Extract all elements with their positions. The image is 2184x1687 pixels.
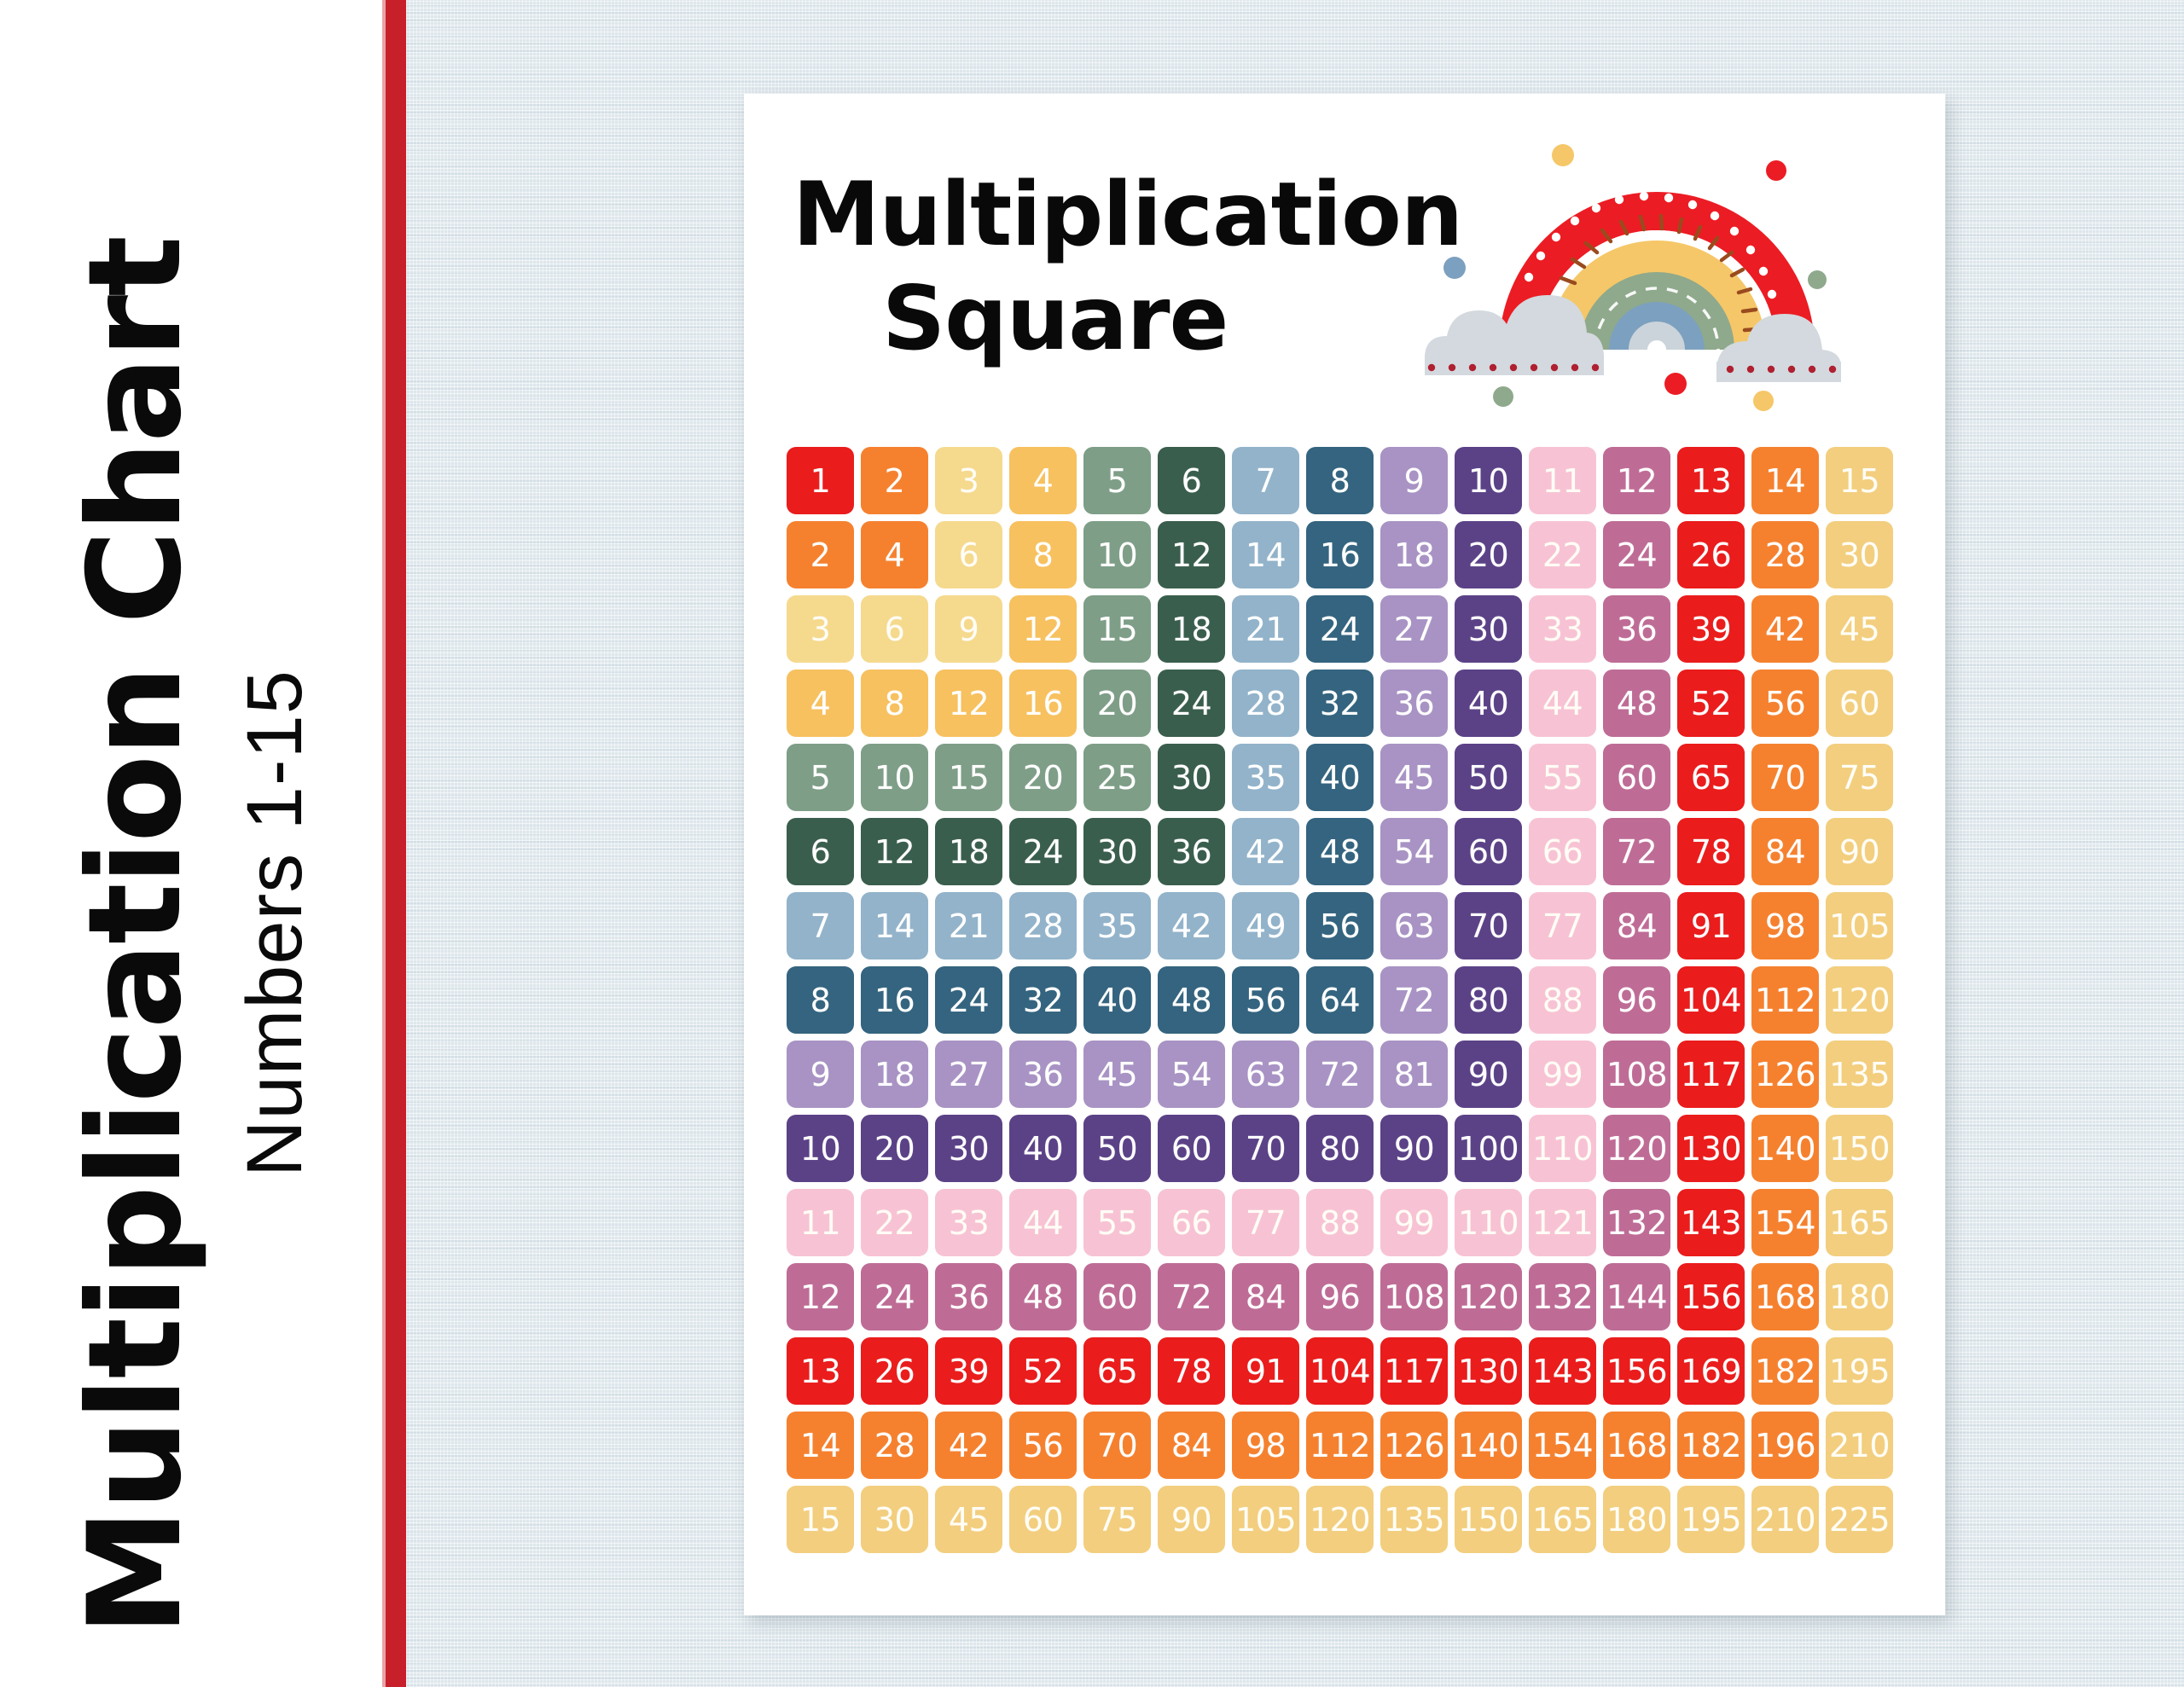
grid-cell-10x12: 120 bbox=[1603, 1115, 1670, 1182]
grid-cell-4x9: 36 bbox=[1380, 670, 1448, 737]
grid-cell-8x5: 40 bbox=[1083, 966, 1151, 1034]
grid-cell-8x4: 32 bbox=[1009, 966, 1077, 1034]
grid-cell-9x2: 18 bbox=[861, 1041, 928, 1108]
grid-cell-3x12: 36 bbox=[1603, 595, 1670, 663]
grid-cell-13x8: 104 bbox=[1306, 1337, 1374, 1405]
red-accent-stripe-highlight bbox=[382, 0, 386, 1687]
grid-cell-7x9: 63 bbox=[1380, 892, 1448, 959]
grid-cell-14x4: 56 bbox=[1009, 1412, 1077, 1479]
grid-cell-6x3: 18 bbox=[935, 818, 1002, 885]
grid-cell-2x11: 22 bbox=[1529, 521, 1596, 588]
grid-cell-6x6: 36 bbox=[1158, 818, 1225, 885]
grid-cell-9x8: 72 bbox=[1306, 1041, 1374, 1108]
grid-cell-8x12: 96 bbox=[1603, 966, 1670, 1034]
grid-cell-3x3: 9 bbox=[935, 595, 1002, 663]
grid-cell-7x7: 49 bbox=[1232, 892, 1299, 959]
grid-cell-6x9: 54 bbox=[1380, 818, 1448, 885]
grid-cell-11x15: 165 bbox=[1826, 1189, 1893, 1256]
grid-cell-1x4: 4 bbox=[1009, 447, 1077, 514]
grid-cell-6x11: 66 bbox=[1529, 818, 1596, 885]
grid-cell-5x6: 30 bbox=[1158, 744, 1225, 811]
grid-cell-4x6: 24 bbox=[1158, 670, 1225, 737]
grid-cell-2x10: 20 bbox=[1455, 521, 1522, 588]
grid-cell-7x5: 35 bbox=[1083, 892, 1151, 959]
grid-cell-5x7: 35 bbox=[1232, 744, 1299, 811]
grid-cell-4x4: 16 bbox=[1009, 670, 1077, 737]
grid-cell-10x8: 80 bbox=[1306, 1115, 1374, 1182]
grid-cell-9x7: 63 bbox=[1232, 1041, 1299, 1108]
grid-cell-10x6: 60 bbox=[1158, 1115, 1225, 1182]
grid-cell-1x10: 10 bbox=[1455, 447, 1522, 514]
page-subtitle: Numbers 1-15 bbox=[230, 670, 320, 1177]
grid-cell-14x8: 112 bbox=[1306, 1412, 1374, 1479]
grid-cell-11x8: 88 bbox=[1306, 1189, 1374, 1256]
grid-cell-3x4: 12 bbox=[1009, 595, 1077, 663]
grid-cell-9x4: 36 bbox=[1009, 1041, 1077, 1108]
grid-cell-7x13: 91 bbox=[1677, 892, 1745, 959]
grid-cell-14x3: 42 bbox=[935, 1412, 1002, 1479]
grid-cell-5x2: 10 bbox=[861, 744, 928, 811]
grid-cell-11x9: 99 bbox=[1380, 1189, 1448, 1256]
grid-cell-15x12: 180 bbox=[1603, 1486, 1670, 1553]
grid-cell-9x12: 108 bbox=[1603, 1041, 1670, 1108]
grid-cell-13x1: 13 bbox=[787, 1337, 854, 1405]
grid-cell-8x15: 120 bbox=[1826, 966, 1893, 1034]
grid-cell-12x4: 48 bbox=[1009, 1263, 1077, 1330]
grid-cell-2x15: 30 bbox=[1826, 521, 1893, 588]
grid-cell-1x3: 3 bbox=[935, 447, 1002, 514]
rainbow-icon bbox=[1418, 102, 1896, 426]
grid-cell-2x3: 6 bbox=[935, 521, 1002, 588]
grid-cell-3x6: 18 bbox=[1158, 595, 1225, 663]
grid-cell-8x11: 88 bbox=[1529, 966, 1596, 1034]
grid-cell-13x14: 182 bbox=[1751, 1337, 1819, 1405]
grid-cell-6x4: 24 bbox=[1009, 818, 1077, 885]
grid-cell-6x8: 48 bbox=[1306, 818, 1374, 885]
grid-cell-1x6: 6 bbox=[1158, 447, 1225, 514]
grid-cell-15x15: 225 bbox=[1826, 1486, 1893, 1553]
grid-cell-10x1: 10 bbox=[787, 1115, 854, 1182]
grid-cell-1x5: 5 bbox=[1083, 447, 1151, 514]
grid-cell-10x13: 130 bbox=[1677, 1115, 1745, 1182]
grid-cell-12x11: 132 bbox=[1529, 1263, 1596, 1330]
grid-cell-3x7: 21 bbox=[1232, 595, 1299, 663]
grid-cell-4x7: 28 bbox=[1232, 670, 1299, 737]
grid-cell-12x15: 180 bbox=[1826, 1263, 1893, 1330]
grid-cell-10x2: 20 bbox=[861, 1115, 928, 1182]
grid-cell-7x15: 105 bbox=[1826, 892, 1893, 959]
grid-cell-14x10: 140 bbox=[1455, 1412, 1522, 1479]
grid-cell-3x14: 42 bbox=[1751, 595, 1819, 663]
grid-cell-10x14: 140 bbox=[1751, 1115, 1819, 1182]
grid-cell-12x10: 120 bbox=[1455, 1263, 1522, 1330]
grid-cell-4x10: 40 bbox=[1455, 670, 1522, 737]
grid-cell-10x9: 90 bbox=[1380, 1115, 1448, 1182]
vertical-title-wrap: Multiplication Chart Numbers 1-15 bbox=[0, 0, 382, 1687]
grid-cell-1x12: 12 bbox=[1603, 447, 1670, 514]
grid-cell-3x15: 45 bbox=[1826, 595, 1893, 663]
grid-cell-4x2: 8 bbox=[861, 670, 928, 737]
grid-cell-14x15: 210 bbox=[1826, 1412, 1893, 1479]
grid-cell-13x11: 143 bbox=[1529, 1337, 1596, 1405]
grid-cell-1x9: 9 bbox=[1380, 447, 1448, 514]
grid-cell-6x14: 84 bbox=[1751, 818, 1819, 885]
grid-cell-2x14: 28 bbox=[1751, 521, 1819, 588]
grid-cell-4x5: 20 bbox=[1083, 670, 1151, 737]
grid-cell-14x11: 154 bbox=[1529, 1412, 1596, 1479]
grid-cell-4x3: 12 bbox=[935, 670, 1002, 737]
grid-cell-14x7: 98 bbox=[1232, 1412, 1299, 1479]
grid-cell-15x7: 105 bbox=[1232, 1486, 1299, 1553]
grid-cell-3x13: 39 bbox=[1677, 595, 1745, 663]
grid-cell-11x14: 154 bbox=[1751, 1189, 1819, 1256]
red-accent-stripe bbox=[382, 0, 406, 1687]
grid-cell-5x3: 15 bbox=[935, 744, 1002, 811]
grid-cell-13x4: 52 bbox=[1009, 1337, 1077, 1405]
grid-cell-6x10: 60 bbox=[1455, 818, 1522, 885]
grid-cell-15x9: 135 bbox=[1380, 1486, 1448, 1553]
grid-cell-14x6: 84 bbox=[1158, 1412, 1225, 1479]
grid-cell-7x11: 77 bbox=[1529, 892, 1596, 959]
grid-cell-2x5: 10 bbox=[1083, 521, 1151, 588]
grid-cell-7x1: 7 bbox=[787, 892, 854, 959]
grid-cell-7x2: 14 bbox=[861, 892, 928, 959]
grid-cell-10x10: 100 bbox=[1455, 1115, 1522, 1182]
grid-cell-4x13: 52 bbox=[1677, 670, 1745, 737]
grid-cell-5x10: 50 bbox=[1455, 744, 1522, 811]
grid-cell-8x1: 8 bbox=[787, 966, 854, 1034]
grid-cell-12x3: 36 bbox=[935, 1263, 1002, 1330]
grid-cell-15x2: 30 bbox=[861, 1486, 928, 1553]
grid-cell-5x13: 65 bbox=[1677, 744, 1745, 811]
grid-cell-15x14: 210 bbox=[1751, 1486, 1819, 1553]
grid-cell-4x8: 32 bbox=[1306, 670, 1374, 737]
grid-cell-10x5: 50 bbox=[1083, 1115, 1151, 1182]
grid-cell-12x8: 96 bbox=[1306, 1263, 1374, 1330]
grid-cell-8x14: 112 bbox=[1751, 966, 1819, 1034]
grid-cell-2x7: 14 bbox=[1232, 521, 1299, 588]
grid-cell-6x13: 78 bbox=[1677, 818, 1745, 885]
grid-cell-5x11: 55 bbox=[1529, 744, 1596, 811]
grid-cell-12x2: 24 bbox=[861, 1263, 928, 1330]
grid-cell-5x5: 25 bbox=[1083, 744, 1151, 811]
grid-cell-11x7: 77 bbox=[1232, 1189, 1299, 1256]
grid-cell-6x7: 42 bbox=[1232, 818, 1299, 885]
grid-cell-6x15: 90 bbox=[1826, 818, 1893, 885]
grid-cell-13x6: 78 bbox=[1158, 1337, 1225, 1405]
grid-cell-14x5: 70 bbox=[1083, 1412, 1151, 1479]
grid-cell-3x11: 33 bbox=[1529, 595, 1596, 663]
grid-cell-14x2: 28 bbox=[861, 1412, 928, 1479]
grid-cell-5x4: 20 bbox=[1009, 744, 1077, 811]
grid-cell-9x9: 81 bbox=[1380, 1041, 1448, 1108]
grid-cell-11x11: 121 bbox=[1529, 1189, 1596, 1256]
grid-cell-2x2: 4 bbox=[861, 521, 928, 588]
grid-cell-13x9: 117 bbox=[1380, 1337, 1448, 1405]
grid-cell-3x2: 6 bbox=[861, 595, 928, 663]
grid-cell-12x7: 84 bbox=[1232, 1263, 1299, 1330]
heading-line-2: Square bbox=[793, 268, 1467, 372]
grid-cell-1x2: 2 bbox=[861, 447, 928, 514]
grid-cell-15x10: 150 bbox=[1455, 1486, 1522, 1553]
grid-cell-13x7: 91 bbox=[1232, 1337, 1299, 1405]
grid-cell-2x4: 8 bbox=[1009, 521, 1077, 588]
grid-cell-9x5: 45 bbox=[1083, 1041, 1151, 1108]
grid-cell-1x7: 7 bbox=[1232, 447, 1299, 514]
grid-cell-14x14: 196 bbox=[1751, 1412, 1819, 1479]
grid-cell-11x1: 11 bbox=[787, 1189, 854, 1256]
grid-cell-9x11: 99 bbox=[1529, 1041, 1596, 1108]
grid-cell-1x8: 8 bbox=[1306, 447, 1374, 514]
grid-cell-14x9: 126 bbox=[1380, 1412, 1448, 1479]
grid-cell-8x13: 104 bbox=[1677, 966, 1745, 1034]
grid-cell-7x14: 98 bbox=[1751, 892, 1819, 959]
grid-cell-10x4: 40 bbox=[1009, 1115, 1077, 1182]
grid-cell-12x9: 108 bbox=[1380, 1263, 1448, 1330]
grid-cell-11x13: 143 bbox=[1677, 1189, 1745, 1256]
card-heading: Multiplication Square bbox=[793, 164, 1467, 371]
grid-cell-4x1: 4 bbox=[787, 670, 854, 737]
grid-cell-1x13: 13 bbox=[1677, 447, 1745, 514]
grid-cell-11x12: 132 bbox=[1603, 1189, 1670, 1256]
grid-cell-6x2: 12 bbox=[861, 818, 928, 885]
grid-cell-3x9: 27 bbox=[1380, 595, 1448, 663]
left-title-panel: Multiplication Chart Numbers 1-15 bbox=[0, 0, 382, 1687]
grid-cell-4x11: 44 bbox=[1529, 670, 1596, 737]
grid-cell-13x2: 26 bbox=[861, 1337, 928, 1405]
grid-cell-2x12: 24 bbox=[1603, 521, 1670, 588]
grid-cell-8x7: 56 bbox=[1232, 966, 1299, 1034]
grid-cell-13x15: 195 bbox=[1826, 1337, 1893, 1405]
grid-cell-13x10: 130 bbox=[1455, 1337, 1522, 1405]
grid-cell-7x8: 56 bbox=[1306, 892, 1374, 959]
grid-cell-1x1: 1 bbox=[787, 447, 854, 514]
grid-cell-8x3: 24 bbox=[935, 966, 1002, 1034]
grid-cell-5x12: 60 bbox=[1603, 744, 1670, 811]
grid-cell-9x10: 90 bbox=[1455, 1041, 1522, 1108]
grid-cell-13x3: 39 bbox=[935, 1337, 1002, 1405]
grid-cell-3x10: 30 bbox=[1455, 595, 1522, 663]
grid-cell-4x14: 56 bbox=[1751, 670, 1819, 737]
multiplication-grid: 1234567891011121314152468101214161820222… bbox=[787, 447, 1893, 1553]
grid-cell-10x15: 150 bbox=[1826, 1115, 1893, 1182]
grid-cell-6x5: 30 bbox=[1083, 818, 1151, 885]
grid-cell-3x8: 24 bbox=[1306, 595, 1374, 663]
grid-cell-11x3: 33 bbox=[935, 1189, 1002, 1256]
grid-cell-2x9: 18 bbox=[1380, 521, 1448, 588]
grid-cell-9x6: 54 bbox=[1158, 1041, 1225, 1108]
heading-line-1: Multiplication bbox=[793, 164, 1467, 268]
grid-cell-2x6: 12 bbox=[1158, 521, 1225, 588]
grid-cell-7x12: 84 bbox=[1603, 892, 1670, 959]
grid-cell-14x12: 168 bbox=[1603, 1412, 1670, 1479]
grid-cell-8x9: 72 bbox=[1380, 966, 1448, 1034]
grid-cell-9x3: 27 bbox=[935, 1041, 1002, 1108]
grid-cell-11x2: 22 bbox=[861, 1189, 928, 1256]
grid-cell-15x1: 15 bbox=[787, 1486, 854, 1553]
grid-cell-13x12: 156 bbox=[1603, 1337, 1670, 1405]
grid-cell-5x9: 45 bbox=[1380, 744, 1448, 811]
grid-cell-9x1: 9 bbox=[787, 1041, 854, 1108]
grid-cell-4x12: 48 bbox=[1603, 670, 1670, 737]
grid-cell-11x5: 55 bbox=[1083, 1189, 1151, 1256]
grid-cell-15x11: 165 bbox=[1529, 1486, 1596, 1553]
grid-cell-12x13: 156 bbox=[1677, 1263, 1745, 1330]
grid-cell-11x6: 66 bbox=[1158, 1189, 1225, 1256]
grid-cell-12x14: 168 bbox=[1751, 1263, 1819, 1330]
grid-cell-4x15: 60 bbox=[1826, 670, 1893, 737]
page-title: Multiplication Chart bbox=[61, 237, 210, 1636]
grid-cell-9x15: 135 bbox=[1826, 1041, 1893, 1108]
grid-cell-8x8: 64 bbox=[1306, 966, 1374, 1034]
grid-cell-14x13: 182 bbox=[1677, 1412, 1745, 1479]
grid-cell-3x5: 15 bbox=[1083, 595, 1151, 663]
grid-cell-9x14: 126 bbox=[1751, 1041, 1819, 1108]
grid-cell-7x3: 21 bbox=[935, 892, 1002, 959]
grid-cell-12x1: 12 bbox=[787, 1263, 854, 1330]
grid-cell-10x7: 70 bbox=[1232, 1115, 1299, 1182]
grid-cell-7x6: 42 bbox=[1158, 892, 1225, 959]
grid-cell-1x14: 14 bbox=[1751, 447, 1819, 514]
grid-cell-13x5: 65 bbox=[1083, 1337, 1151, 1405]
grid-cell-5x14: 70 bbox=[1751, 744, 1819, 811]
grid-cell-10x11: 110 bbox=[1529, 1115, 1596, 1182]
grid-cell-5x8: 40 bbox=[1306, 744, 1374, 811]
grid-cell-1x15: 15 bbox=[1826, 447, 1893, 514]
grid-cell-15x4: 60 bbox=[1009, 1486, 1077, 1553]
card-header: Multiplication Square bbox=[744, 94, 1945, 435]
grid-cell-6x1: 6 bbox=[787, 818, 854, 885]
grid-cell-12x5: 60 bbox=[1083, 1263, 1151, 1330]
grid-cell-2x13: 26 bbox=[1677, 521, 1745, 588]
grid-cell-15x3: 45 bbox=[935, 1486, 1002, 1553]
grid-cell-3x1: 3 bbox=[787, 595, 854, 663]
grid-cell-6x12: 72 bbox=[1603, 818, 1670, 885]
grid-cell-2x1: 2 bbox=[787, 521, 854, 588]
grid-cell-1x11: 11 bbox=[1529, 447, 1596, 514]
grid-cell-11x10: 110 bbox=[1455, 1189, 1522, 1256]
grid-cell-10x3: 30 bbox=[935, 1115, 1002, 1182]
grid-cell-11x4: 44 bbox=[1009, 1189, 1077, 1256]
grid-cell-2x8: 16 bbox=[1306, 521, 1374, 588]
worksheet-card: Multiplication Square bbox=[744, 94, 1945, 1615]
grid-cell-12x6: 72 bbox=[1158, 1263, 1225, 1330]
grid-cell-15x13: 195 bbox=[1677, 1486, 1745, 1553]
grid-cell-15x6: 90 bbox=[1158, 1486, 1225, 1553]
grid-cell-8x6: 48 bbox=[1158, 966, 1225, 1034]
grid-cell-13x13: 169 bbox=[1677, 1337, 1745, 1405]
grid-cell-14x1: 14 bbox=[787, 1412, 854, 1479]
grid-cell-5x1: 5 bbox=[787, 744, 854, 811]
grid-cell-7x4: 28 bbox=[1009, 892, 1077, 959]
grid-cell-7x10: 70 bbox=[1455, 892, 1522, 959]
grid-cell-5x15: 75 bbox=[1826, 744, 1893, 811]
grid-cell-15x8: 120 bbox=[1306, 1486, 1374, 1553]
grid-cell-8x2: 16 bbox=[861, 966, 928, 1034]
grid-cell-12x12: 144 bbox=[1603, 1263, 1670, 1330]
grid-cell-15x5: 75 bbox=[1083, 1486, 1151, 1553]
grid-cell-8x10: 80 bbox=[1455, 966, 1522, 1034]
grid-cell-9x13: 117 bbox=[1677, 1041, 1745, 1108]
